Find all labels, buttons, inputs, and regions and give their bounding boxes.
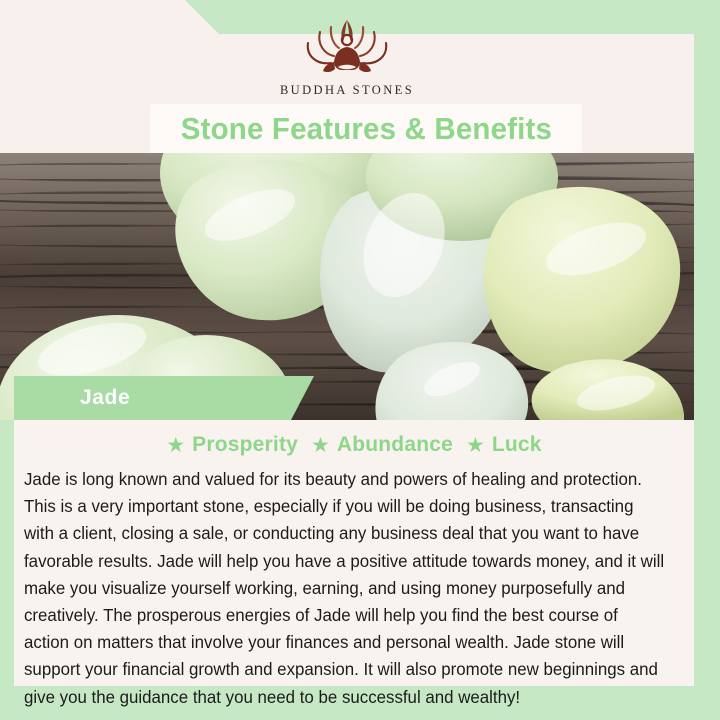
brand-name: BUDDHA STONES (280, 83, 414, 98)
star-icon: ★ (466, 435, 485, 456)
brand-logo: BUDDHA STONES (0, 14, 694, 98)
benefit-item: ★ Abundance (311, 433, 453, 457)
benefit-label: Prosperity (192, 433, 298, 457)
stone-photo: Jade (0, 153, 694, 420)
title-strip: Stone Features & Benefits (150, 104, 582, 154)
description-panel: ★ Prosperity ★ Abundance ★ Luck Jade is … (14, 420, 694, 686)
benefit-item: ★ Luck (466, 433, 542, 457)
benefit-label: Luck (492, 433, 542, 457)
star-icon: ★ (166, 435, 185, 456)
benefits-row: ★ Prosperity ★ Abundance ★ Luck (14, 420, 694, 462)
right-green-strip (694, 0, 720, 720)
benefit-label: Abundance (337, 433, 453, 457)
benefit-item: ★ Prosperity (166, 433, 298, 457)
stone-description: Jade is long known and valued for its be… (24, 466, 664, 711)
page-title: Stone Features & Benefits (180, 111, 551, 147)
star-icon: ★ (311, 435, 330, 456)
lotus-meditation-icon (294, 14, 400, 80)
stone-name-tag: Jade (14, 376, 314, 420)
stone-name-label: Jade (80, 386, 130, 410)
infographic-page: BUDDHA STONES Stone Features & Benefits (0, 0, 720, 720)
